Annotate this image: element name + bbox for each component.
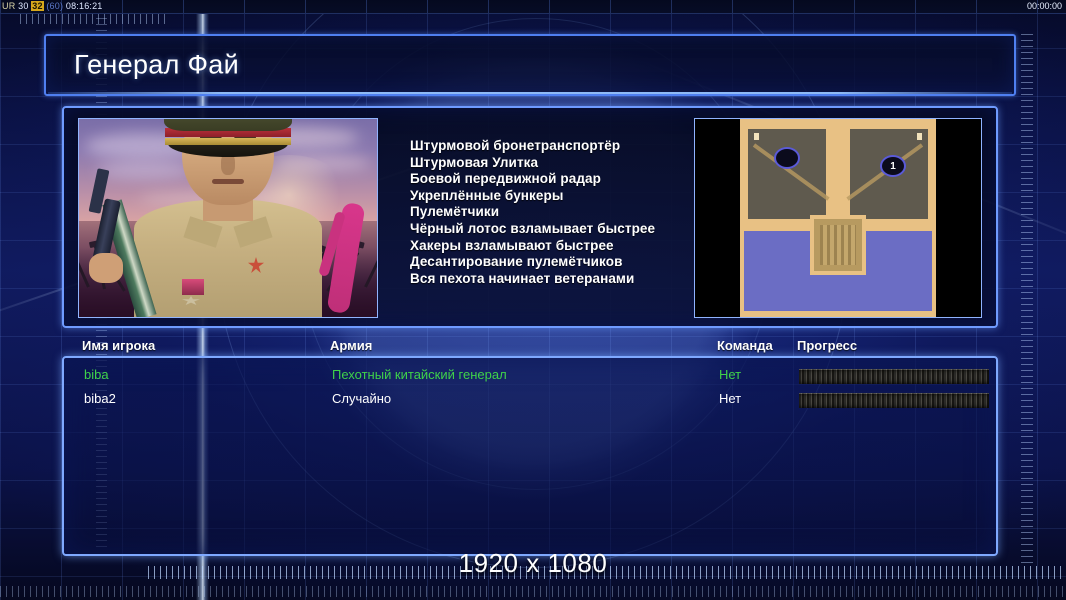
- player-name[interactable]: biba2: [84, 391, 116, 406]
- general-portrait: [78, 118, 378, 318]
- general-hand: [89, 253, 123, 283]
- cap-gold-trim: [165, 138, 291, 145]
- title-underline: [48, 92, 1012, 94]
- chest-insignia: [248, 257, 264, 273]
- column-header-name: Имя игрока: [82, 338, 155, 353]
- column-header-progress: Прогресс: [797, 338, 857, 353]
- player-team[interactable]: Нет: [719, 367, 741, 382]
- debug-bar-cells: [0, 0, 1066, 13]
- medal-ribbon: [182, 279, 204, 295]
- map-road-vertical: [834, 119, 842, 223]
- debug-overlay-bar: UR 30 32 (60) 08:16:21 00:00:00: [0, 0, 1066, 14]
- ability-item: Десантирование пулемётчиков: [410, 254, 710, 271]
- map-flag-icon: [754, 133, 759, 140]
- fps-current: 32: [31, 1, 43, 11]
- fps-min: 30: [18, 1, 28, 11]
- table-row[interactable]: biba Пехотный китайский генерал Нет: [64, 364, 996, 388]
- map-preview[interactable]: 1: [694, 118, 982, 318]
- map-center-structure: [810, 215, 866, 275]
- player-team[interactable]: Нет: [719, 391, 741, 406]
- ability-item: Пулемётчики: [410, 204, 710, 221]
- ability-item: Вся пехота начинает ветеранами: [410, 271, 710, 288]
- title-panel: Генерал Фай: [44, 34, 1016, 96]
- resolution-overlay: 1920 x 1080: [0, 548, 1066, 579]
- column-header-team: Команда: [717, 338, 773, 353]
- ability-item: Боевой передвижной радар: [410, 171, 710, 188]
- rifle-silhouette: [364, 245, 378, 288]
- fps-cap: (60): [46, 1, 63, 11]
- ability-item: Укреплённые бункеры: [410, 188, 710, 205]
- player-army[interactable]: Случайно: [332, 391, 391, 406]
- match-clock: 00:00:00: [1027, 0, 1062, 13]
- player-table-header: Имя игрока Армия Команда Прогресс: [62, 338, 994, 356]
- player-progress-bar: [799, 393, 989, 408]
- ruler-strip-right: [1021, 34, 1033, 566]
- mouth: [212, 179, 244, 184]
- session-time: 08:16:21: [66, 1, 103, 11]
- ruler-strip-bottom-secondary: [0, 586, 1066, 597]
- ability-item: Штурмовая Улитка: [410, 155, 710, 172]
- start-position-marker-0[interactable]: [774, 147, 800, 169]
- ability-list: Штурмовой бронетранспортёр Штурмовая Ули…: [410, 138, 710, 287]
- page-title: Генерал Фай: [74, 50, 239, 81]
- ability-item: Хакеры взламывают быстрее: [410, 238, 710, 255]
- map-flag-icon: [917, 133, 922, 140]
- player-list-panel: biba Пехотный китайский генерал Нет biba…: [62, 356, 998, 556]
- medal-star: [182, 296, 200, 305]
- cloud: [97, 161, 193, 179]
- fps-counter: UR 30 32 (60) 08:16:21: [2, 0, 103, 13]
- player-name[interactable]: biba: [84, 367, 109, 382]
- column-header-army: Армия: [330, 338, 372, 353]
- general-info-panel: Штурмовой бронетранспортёр Штурмовая Ули…: [62, 106, 998, 328]
- start-position-marker-1[interactable]: 1: [880, 155, 906, 177]
- ability-item: Чёрный лотос взламывает быстрее: [410, 221, 710, 238]
- ability-item: Штурмовой бронетранспортёр: [410, 138, 710, 155]
- military-cap: [164, 118, 292, 131]
- ruler-strip-top: [20, 14, 170, 24]
- player-progress-bar: [799, 369, 989, 384]
- minimap-canvas: 1: [740, 119, 936, 317]
- fps-prefix: UR: [2, 1, 15, 11]
- map-field-left: [748, 129, 826, 219]
- map-center-detail: [820, 225, 856, 265]
- player-army[interactable]: Пехотный китайский генерал: [332, 367, 507, 382]
- table-row[interactable]: biba2 Случайно Нет: [64, 388, 996, 412]
